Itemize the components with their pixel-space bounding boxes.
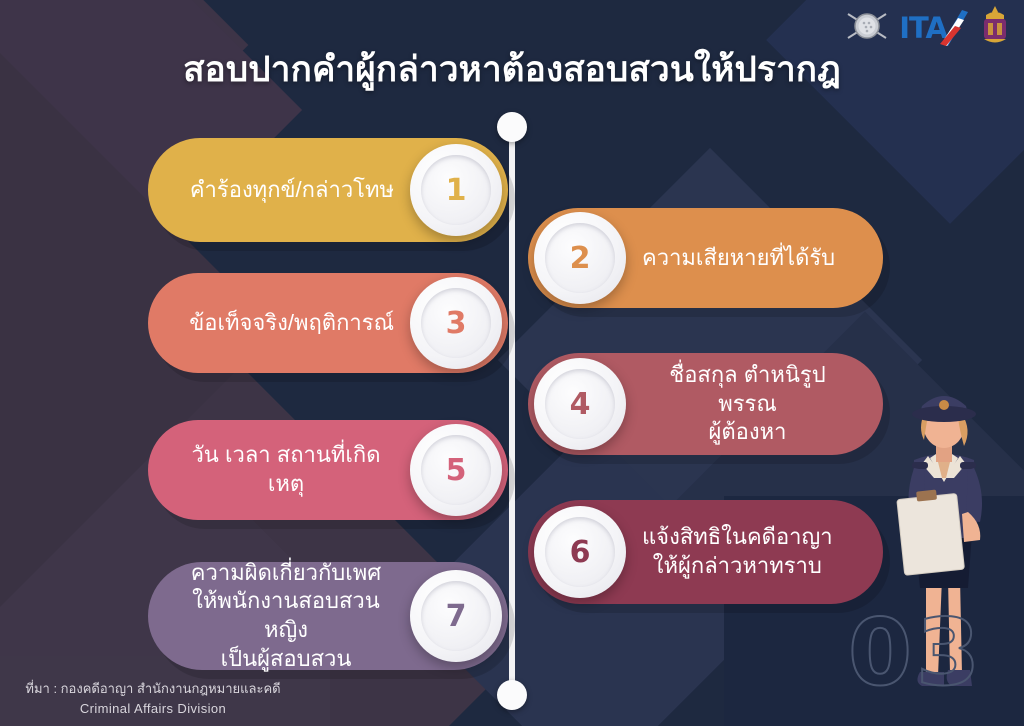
step-pill-2[interactable]: 2ความเสียหายที่ได้รับ: [528, 208, 883, 308]
royal-thai-police-emblem-logo: [978, 5, 1012, 52]
step-label-3: ข้อเท็จจริง/พฤติการณ์: [159, 309, 410, 338]
footer-source-english: Criminal Affairs Division: [8, 699, 298, 719]
step-number-badge-3: 3: [410, 277, 502, 369]
step-number-badge-7: 7: [410, 570, 502, 662]
logo-bar: ITA: [845, 4, 1012, 52]
step-number-2: 2: [570, 241, 591, 276]
step-number-badge-5: 5: [410, 424, 502, 516]
ita-logo: ITA: [899, 8, 968, 48]
step-label-6: แจ้งสิทธิในคดีอาญา ให้ผู้กล่าวหาทราบ: [626, 523, 863, 580]
step-number-badge-2: 2: [534, 212, 626, 304]
step-pill-6[interactable]: 6แจ้งสิทธิในคดีอาญา ให้ผู้กล่าวหาทราบ: [528, 500, 883, 604]
step-pill-4[interactable]: 4ชื่อสกุล ตำหนิรูปพรรณ ผู้ต้องหา: [528, 353, 883, 455]
footer-source: ที่มา : กองคดีอาญา สำนักงานกฎหมายและคดี …: [8, 679, 298, 718]
step-number-badge-4: 4: [534, 358, 626, 450]
step-number-1: 1: [446, 173, 467, 208]
timeline-dot-top: [497, 112, 527, 142]
step-number-4: 4: [570, 387, 591, 422]
step-label-2: ความเสียหายที่ได้รับ: [626, 244, 865, 273]
step-label-4: ชื่อสกุล ตำหนิรูปพรรณ ผู้ต้องหา: [626, 361, 883, 447]
timeline-dot-bottom: [497, 680, 527, 710]
step-label-7: ความผิดเกี่ยวกับเพศ ให้พนักงานสอบสวนหญิง…: [148, 559, 410, 673]
step-number-3: 3: [446, 306, 467, 341]
footer-source-thai: ที่มา : กองคดีอาญา สำนักงานกฎหมายและคดี: [8, 679, 298, 699]
page-number-watermark: 03: [848, 599, 984, 706]
step-pill-7[interactable]: ความผิดเกี่ยวกับเพศ ให้พนักงานสอบสวนหญิง…: [148, 562, 508, 670]
step-pill-1[interactable]: คำร้องทุกข์/กล่าวโทษ1: [148, 138, 508, 242]
step-label-1: คำร้องทุกข์/กล่าวโทษ: [160, 176, 410, 205]
step-number-6: 6: [570, 535, 591, 570]
step-label-5: วัน เวลา สถานที่เกิดเหตุ: [148, 441, 410, 498]
timeline-line: [509, 126, 515, 698]
police-emblem-logo: [845, 6, 889, 51]
step-number-7: 7: [446, 599, 467, 634]
step-number-badge-6: 6: [534, 506, 626, 598]
step-pill-3[interactable]: ข้อเท็จจริง/พฤติการณ์3: [148, 273, 508, 373]
step-number-5: 5: [446, 453, 467, 488]
step-pill-5[interactable]: วัน เวลา สถานที่เกิดเหตุ5: [148, 420, 508, 520]
step-number-badge-1: 1: [410, 144, 502, 236]
